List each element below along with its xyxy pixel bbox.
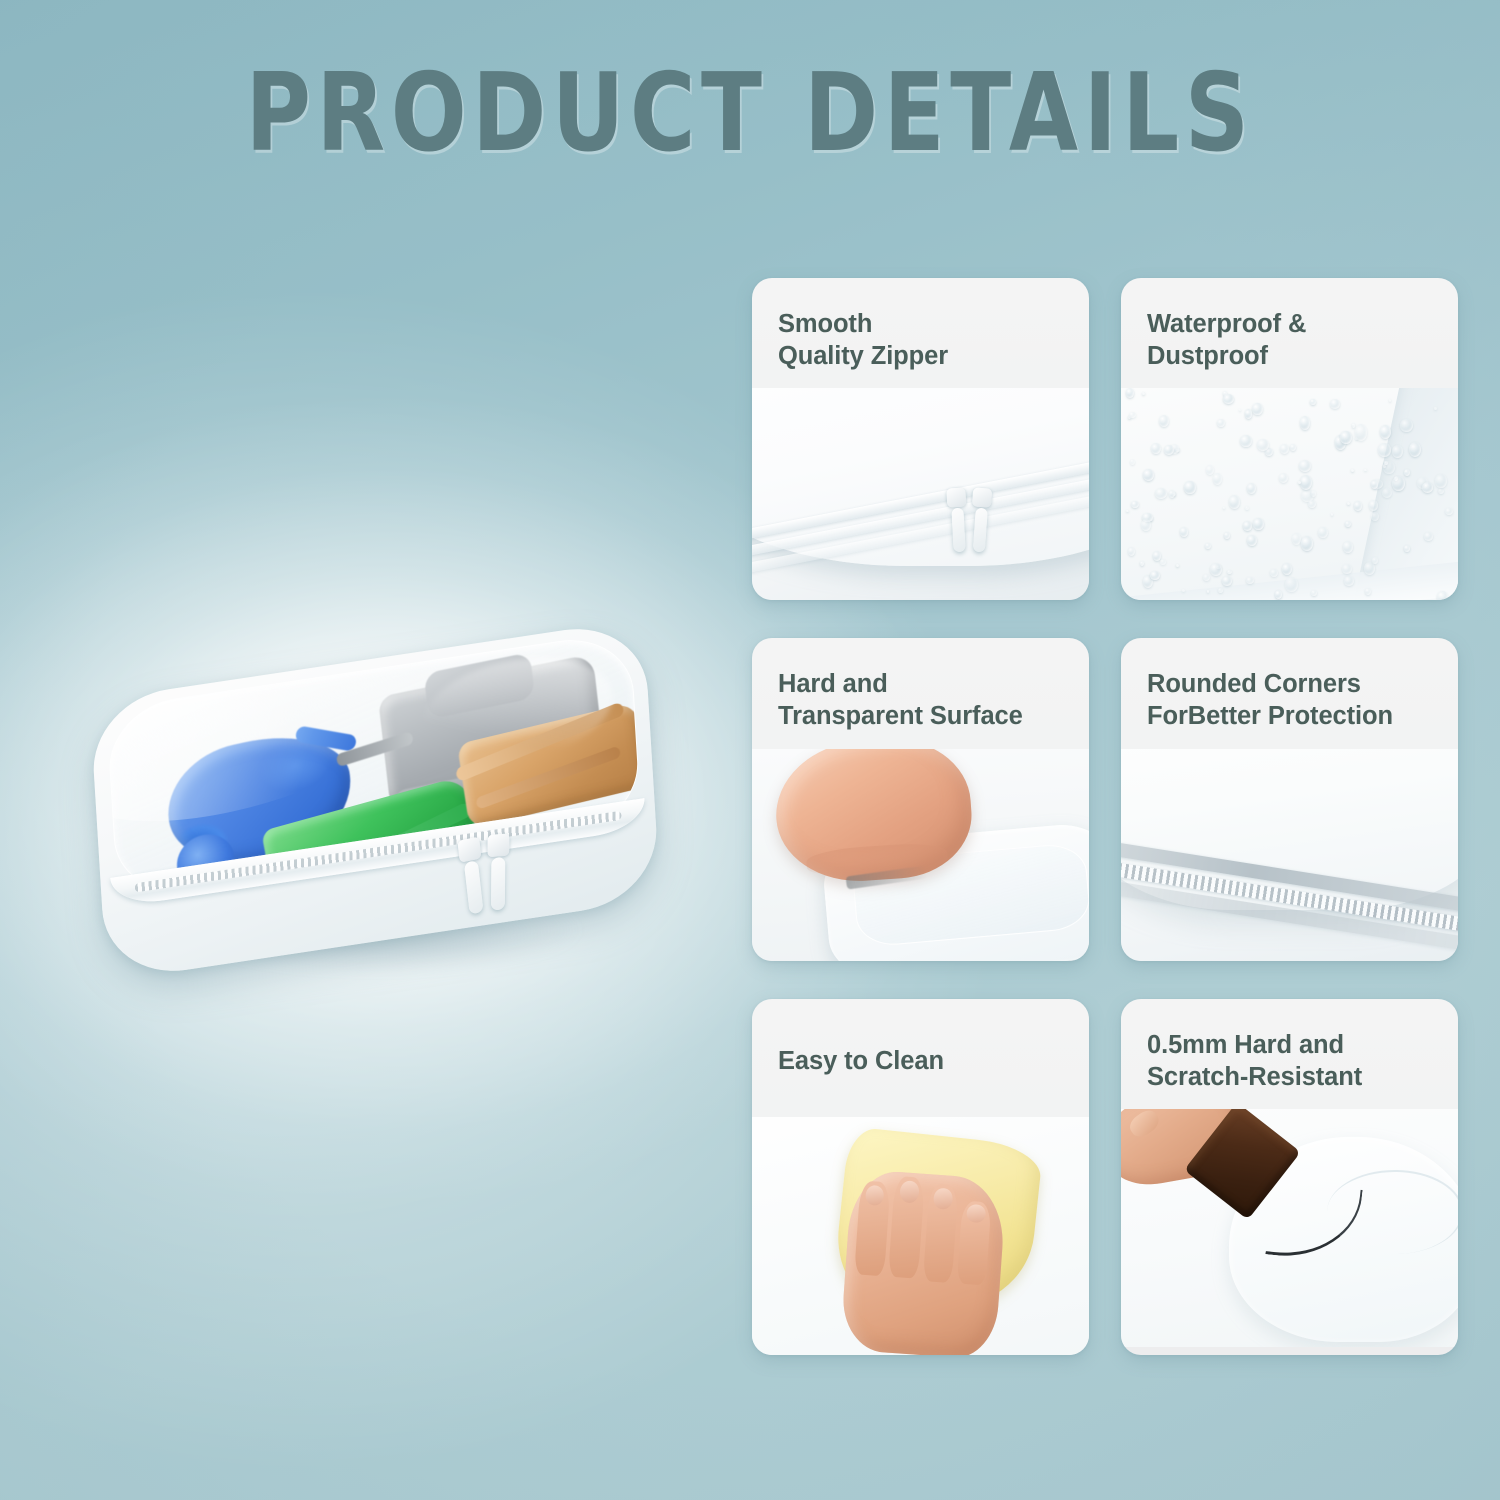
water-droplet: [1344, 576, 1354, 586]
water-droplet: [1217, 419, 1225, 427]
water-droplet: [1292, 533, 1301, 545]
zipper-pull-head: [946, 488, 966, 508]
feature-title: 0.5mm Hard and Scratch-Resistant: [1121, 999, 1458, 1109]
water-droplet: [1354, 501, 1363, 511]
water-droplet: [1126, 510, 1129, 513]
zipper-closeup-photo: [752, 388, 1089, 600]
water-droplet: [1434, 407, 1437, 409]
water-droplet: [1224, 532, 1230, 539]
finger: [923, 1183, 959, 1282]
zipper-pull-tab: [972, 508, 987, 553]
water-droplet: [1180, 527, 1189, 536]
water-droplet: [1239, 409, 1241, 411]
water-droplet: [1164, 445, 1174, 455]
water-droplet: [1355, 424, 1368, 441]
water-droplet: [1169, 490, 1175, 498]
water-droplet: [1218, 588, 1223, 594]
water-droplet: [1210, 563, 1222, 576]
water-droplet: [1176, 564, 1179, 567]
water-droplet: [1245, 506, 1249, 510]
water-droplet: [1270, 569, 1278, 577]
water-droplet: [1299, 460, 1312, 472]
water-droplet: [1318, 527, 1328, 539]
water-droplet: [1340, 431, 1352, 445]
feature-card-scratch-resistant[interactable]: 0.5mm Hard and Scratch-Resistant: [1121, 999, 1458, 1355]
feature-card-waterproof-dustproof[interactable]: Waterproof & Dustproof: [1121, 278, 1458, 600]
zipper-pull-tab: [491, 857, 505, 911]
water-droplet: [1243, 521, 1252, 531]
finger: [889, 1175, 925, 1278]
water-droplet: [1384, 461, 1388, 466]
water-droplet: [1364, 469, 1367, 472]
water-droplet: [1389, 399, 1391, 401]
water-droplet: [1311, 490, 1316, 496]
water-droplet: [1343, 541, 1353, 553]
water-droplet: [1404, 545, 1410, 551]
water-droplet: [1142, 392, 1145, 395]
water-droplet: [1308, 500, 1316, 508]
water-droplet: [1240, 435, 1252, 448]
water-droplet: [1301, 536, 1313, 550]
feature-card-easy-to-clean[interactable]: Easy to Clean: [752, 999, 1089, 1355]
water-droplet: [1229, 495, 1240, 509]
water-droplet: [1380, 425, 1391, 439]
water-droplet: [1206, 465, 1214, 476]
fist-pressing-lid-photo: [752, 749, 1089, 961]
feature-row-2: Hard and Transparent Surface Rounded Cor…: [752, 638, 1458, 960]
water-droplet: [1300, 416, 1311, 429]
feature-card-grid: Smooth Quality Zipper: [752, 278, 1458, 1355]
water-droplet: [1130, 459, 1135, 465]
water-droplet: [1246, 577, 1253, 584]
feature-row-1: Smooth Quality Zipper: [752, 278, 1458, 600]
water-droplet: [1227, 570, 1231, 574]
water-droplet: [1409, 442, 1421, 457]
water-droplet: [1126, 388, 1134, 398]
water-droplet: [1247, 535, 1257, 546]
water-droplet: [1285, 577, 1297, 593]
fingernail: [865, 1184, 885, 1206]
water-droplet: [1378, 443, 1390, 457]
water-droplet: [1345, 521, 1351, 527]
water-droplet: [1257, 439, 1269, 451]
feature-card-smooth-quality-zipper[interactable]: Smooth Quality Zipper: [752, 278, 1089, 600]
water-droplet: [1300, 475, 1312, 490]
water-droplet: [1371, 512, 1378, 521]
feature-row-3: Easy to Clean 0.5mm Hard and Scratch-Res…: [752, 999, 1458, 1355]
wiping-hand: [840, 1169, 1007, 1355]
water-droplet: [1342, 564, 1352, 574]
page-title: PRODUCT DETAILS: [60, 60, 1440, 168]
feature-title: Rounded Corners ForBetter Protection: [1121, 638, 1458, 748]
cloth-wiping-photo: [752, 1117, 1089, 1355]
water-droplet: [1253, 518, 1263, 530]
water-droplet: [1279, 473, 1288, 483]
feature-title: Easy to Clean: [752, 999, 1089, 1117]
zipper-pull-right: [969, 488, 992, 553]
water-droplet: [1140, 561, 1144, 566]
water-droplet: [1223, 507, 1225, 509]
water-droplet: [1155, 488, 1167, 499]
water-droplet: [1160, 559, 1167, 565]
feature-title: Waterproof & Dustproof: [1121, 278, 1458, 388]
water-droplet: [1282, 563, 1292, 575]
water-droplet: [1223, 394, 1233, 404]
water-droplet: [1151, 443, 1161, 455]
water-droplet: [1213, 473, 1222, 485]
water-droplet: [1245, 409, 1253, 418]
water-droplet: [1203, 574, 1210, 581]
zipper-pull-left: [946, 488, 968, 553]
water-droplet: [1207, 590, 1210, 593]
water-droplet: [1159, 415, 1169, 427]
feature-card-hard-transparent-surface[interactable]: Hard and Transparent Surface: [752, 638, 1089, 960]
finger: [957, 1200, 992, 1285]
zipper-pull-head: [972, 488, 992, 508]
water-droplet: [1205, 543, 1211, 549]
finger: [855, 1180, 891, 1276]
zipper-pulls: [948, 488, 1006, 558]
fingernail: [966, 1203, 986, 1223]
water-droplet: [1290, 444, 1296, 451]
water-droplet: [1141, 519, 1151, 530]
water-droplet: [1252, 403, 1263, 416]
water-droplet: [1222, 576, 1233, 586]
water-droplet: [1331, 513, 1334, 516]
hero-product-image: [60, 540, 720, 1040]
water-droplet: [1143, 469, 1155, 482]
zipper-pull-right: [487, 833, 509, 911]
water-droplet: [1347, 502, 1350, 505]
zipper-pull-head: [457, 837, 481, 863]
water-droplet: [1128, 547, 1135, 556]
water-droplet: [1424, 532, 1434, 541]
zipper-pull-tab: [951, 508, 965, 553]
water-droplet: [1364, 562, 1375, 575]
water-droplet: [1150, 571, 1159, 580]
feature-card-rounded-corners[interactable]: Rounded Corners ForBetter Protection: [1121, 638, 1458, 960]
water-droplet: [1437, 591, 1448, 600]
water-droplet: [1371, 480, 1379, 488]
zipper-pulls: [459, 831, 525, 920]
water-droplet: [1435, 474, 1447, 489]
feature-title: Hard and Transparent Surface: [752, 638, 1089, 748]
rounded-corner-photo: [1121, 749, 1458, 961]
water-droplets-photo: [1121, 388, 1458, 600]
water-droplet: [1247, 483, 1256, 494]
feature-title: Smooth Quality Zipper: [752, 278, 1089, 388]
water-droplet: [1404, 469, 1410, 476]
water-droplet: [1422, 482, 1434, 493]
fingernail: [899, 1180, 919, 1204]
water-droplet: [1310, 399, 1315, 405]
water-droplet: [1280, 444, 1289, 454]
water-droplet: [1330, 399, 1341, 409]
zipper-pull-tab: [464, 860, 484, 914]
water-droplet: [1129, 412, 1136, 418]
water-droplet: [1400, 419, 1413, 432]
water-droplet: [1438, 488, 1444, 494]
water-droplet: [1351, 469, 1354, 472]
fingernail: [933, 1187, 953, 1210]
zipper-pull-head: [487, 833, 509, 857]
water-droplet: [1131, 501, 1139, 509]
thumb-finger: [1126, 1109, 1162, 1141]
knife-scratch-test-photo: [1121, 1109, 1458, 1347]
water-droplet: [1184, 481, 1195, 495]
